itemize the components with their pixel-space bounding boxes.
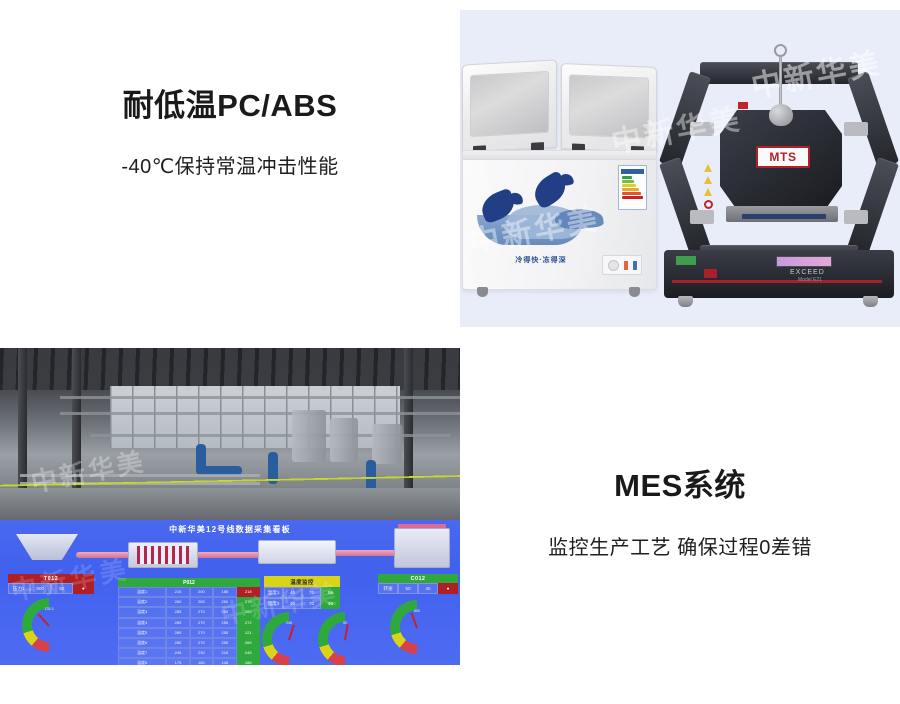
machine-foot xyxy=(678,296,693,307)
mes-table-cell: 200 xyxy=(190,587,213,597)
mes-cell: 温度1 xyxy=(264,587,283,598)
process-pipe xyxy=(334,550,396,556)
process-pipe xyxy=(196,552,260,558)
dolphin-icon xyxy=(529,170,572,210)
base-red-label xyxy=(704,269,717,278)
factory-interior-photo: 中新华美 xyxy=(0,348,460,520)
mes-cell: 900 xyxy=(30,583,52,594)
promo-page: 耐低温PC/ABS -40℃保持常温冲击性能 xyxy=(0,0,900,704)
mes-table-cell: 温度5 xyxy=(118,628,166,638)
chest-freezer-illustration: 冷得快·冻得深 xyxy=(462,58,657,303)
freezer-cabinet: 冷得快·冻得深 xyxy=(462,150,657,290)
mes-cell: 温度2 xyxy=(264,598,283,609)
energy-bar xyxy=(622,188,639,191)
equipment-extruder xyxy=(128,542,198,568)
test-specimen xyxy=(742,214,826,219)
mes-table-row: 温度6285270255269 xyxy=(118,638,260,648)
thermostat-knob-icon xyxy=(608,260,619,271)
hoist-ring-icon xyxy=(774,44,787,57)
mes-cell-alarm: ● xyxy=(73,583,95,594)
base-model-text: Model E21 xyxy=(798,277,822,283)
mes-center-panel[interactable]: 温度监控 温度1 40 70 55 温度2 40 70 46 xyxy=(264,576,340,609)
mes-table-cell: 温度1 xyxy=(118,587,166,597)
top-left-headline: 耐低温PC/ABS xyxy=(123,86,338,126)
mes-center-panel-header: 温度监控 xyxy=(264,576,340,587)
mes-table-row: 温度8175160145166 xyxy=(118,658,260,665)
mes-table-row: 温度4285270255272 xyxy=(118,618,260,628)
frame-bar-upper-left xyxy=(659,71,711,169)
mes-table-cell: 285 xyxy=(166,618,189,628)
mes-table-cell: 255 xyxy=(213,628,236,638)
mes-table-cell-ok: 121 xyxy=(237,628,260,638)
mes-table-cell-ok: 276 xyxy=(237,597,260,607)
mes-table-cell-ok: 272 xyxy=(237,618,260,628)
mes-table-cell: 145 xyxy=(213,658,236,665)
prohibition-icon xyxy=(704,200,713,209)
mes-right-panel-header: C012 xyxy=(378,574,458,583)
frame-pad xyxy=(844,210,868,224)
gauge-label: 600 xyxy=(390,609,444,613)
equipment-hopper xyxy=(16,534,78,560)
warning-triangle-icon xyxy=(704,164,712,172)
mes-left-panel-row: 压力1 900 50 ● xyxy=(8,583,94,594)
mts-logo-text: MTS xyxy=(769,150,796,164)
mes-cell: 40 xyxy=(283,587,302,598)
energy-bar xyxy=(622,176,632,179)
base-accent-stripe xyxy=(672,280,882,283)
mes-table-header: P012 xyxy=(118,578,260,587)
mes-table-cell: 215 xyxy=(213,648,236,658)
warning-triangle-icon xyxy=(704,188,712,196)
mes-table-cell-ok: 166 xyxy=(237,658,260,665)
frame-pad xyxy=(844,122,868,136)
mes-table-cell: 285 xyxy=(166,628,189,638)
mes-table-cell: 215 xyxy=(166,587,189,597)
freezer-caster xyxy=(629,287,640,297)
freezer-lid-right-inner xyxy=(569,74,650,138)
energy-efficiency-label xyxy=(618,165,647,210)
bottom-right-text-block: MES系统 监控生产工艺 确保过程0差错 xyxy=(460,460,900,580)
energy-label-header xyxy=(621,169,644,174)
top-row: 耐低温PC/ABS -40℃保持常温冲击性能 xyxy=(0,0,900,348)
mes-left-panel[interactable]: T012 压力1 900 50 ● xyxy=(8,574,94,594)
factory-beam xyxy=(60,396,460,399)
base-green-label xyxy=(676,256,696,265)
mes-table-cell: 285 xyxy=(166,638,189,648)
mes-table-cell: 270 xyxy=(190,638,213,648)
mes-table-cell: 温度4 xyxy=(118,618,166,628)
mes-table-cell: 185 xyxy=(213,587,236,597)
freezer-lid-right xyxy=(561,63,657,153)
mes-cell: 70 xyxy=(302,587,321,598)
freezer-top-rail xyxy=(463,151,656,160)
mes-table-body: 温度1215200185218温度2280265250276温度32852702… xyxy=(118,587,260,665)
mes-cell: 70 xyxy=(302,598,321,609)
mes-dashboard: 中新华美12号线数据采集看板 T012 压力1 900 50 xyxy=(0,520,460,665)
mes-table-cell: 160 xyxy=(190,658,213,665)
bottom-row: 中新华美 中新华美12号线数据采集看板 T012 压力1 xyxy=(0,348,900,668)
mes-right-panel-row: 转速 50 40 ● xyxy=(378,583,458,594)
mes-table-cell: 245 xyxy=(166,648,189,658)
mes-table-cell-ok: 265 xyxy=(237,607,260,617)
mes-table-cell: 285 xyxy=(166,607,189,617)
factory-floor xyxy=(0,488,460,520)
top-left-text-block: 耐低温PC/ABS -40℃保持常温冲击性能 xyxy=(0,86,460,206)
process-tank xyxy=(330,418,358,462)
equipment-cooling-unit xyxy=(258,540,336,564)
warning-triangle-icon xyxy=(704,176,712,184)
process-pipe xyxy=(76,552,132,558)
mes-center-row: 温度1 40 70 55 xyxy=(264,587,340,598)
warning-label-column xyxy=(704,164,713,209)
mes-table-row: 温度7245230215245 xyxy=(118,648,260,658)
process-tank xyxy=(372,424,402,464)
mes-table-cell: 280 xyxy=(166,597,189,607)
mes-center-row: 温度2 40 70 46 xyxy=(264,598,340,609)
mes-table-cell-ok: 245 xyxy=(237,648,260,658)
mes-cell: 压力1 xyxy=(8,583,30,594)
machine-base: EXCEED Model E21 xyxy=(664,250,894,298)
mes-table-cell: 265 xyxy=(190,597,213,607)
mes-gauge: 245 xyxy=(262,612,316,644)
bottom-right-subline: 监控生产工艺 确保过程0差错 xyxy=(548,531,812,560)
bottom-right-headline: MES系统 xyxy=(614,460,746,505)
mes-gauge: 50 xyxy=(318,612,372,644)
energy-bar xyxy=(622,184,636,187)
mes-table-row: 温度2280265250276 xyxy=(118,597,260,607)
mes-table-cell: 175 xyxy=(166,658,189,665)
mes-data-table: P012 温度1215200185218温度2280265250276温度328… xyxy=(118,578,260,665)
machine-foot xyxy=(863,296,878,307)
mes-cell: 40 xyxy=(418,583,438,594)
freezer-slogan: 冷得快·冻得深 xyxy=(485,255,597,265)
mes-table-cell-ok: 269 xyxy=(237,638,260,648)
process-tank xyxy=(292,410,326,462)
energy-bar xyxy=(622,180,634,183)
frame-pad xyxy=(690,210,714,224)
mes-table-cell: 温度7 xyxy=(118,648,166,658)
mts-logo: MTS xyxy=(756,146,810,168)
mes-table-cell: 温度6 xyxy=(118,638,166,648)
tup-weight-icon xyxy=(769,104,793,126)
mes-table-row: 温度3285270255265 xyxy=(118,607,260,617)
mes-cell: 转速 xyxy=(378,583,398,594)
mes-table-row: 温度1215200185218 xyxy=(118,587,260,597)
top-left-subline: -40℃保持常温冲击性能 xyxy=(121,150,338,179)
mes-cell-ok: 55 xyxy=(321,587,340,598)
mes-table-cell: 温度8 xyxy=(118,658,166,665)
dolphin-logo xyxy=(477,175,605,249)
bottom-left-photo: 中新华美 中新华美12号线数据采集看板 T012 压力1 xyxy=(0,348,460,665)
mes-table-cell: 温度3 xyxy=(118,607,166,617)
mes-table-cell: 270 xyxy=(190,607,213,617)
gauge-label: 50 xyxy=(318,621,372,625)
impact-testing-machine: MTS EXCEED Model E21 xyxy=(668,54,890,309)
gauge-label: 245 xyxy=(262,621,316,625)
control-display-screen[interactable] xyxy=(776,256,832,267)
freezer-lid-left xyxy=(462,59,557,152)
mes-table-cell: 250 xyxy=(213,597,236,607)
equipment-winder xyxy=(394,528,450,568)
mes-table-cell: 270 xyxy=(190,618,213,628)
mes-table-cell: 255 xyxy=(213,607,236,617)
mes-cell: 50 xyxy=(398,583,418,594)
factory-beam xyxy=(60,412,460,415)
mes-table-cell-alarm: 218 xyxy=(237,587,260,597)
mes-table-cell: 温度2 xyxy=(118,597,166,607)
top-right-photo: 冷得快·冻得深 xyxy=(460,10,900,327)
freezer-lid-left-inner xyxy=(470,71,550,137)
base-brand-text: EXCEED xyxy=(790,269,825,276)
energy-bar xyxy=(622,196,643,199)
freezer-caster xyxy=(477,287,488,297)
mes-cell: 40 xyxy=(283,598,302,609)
energy-bar xyxy=(622,192,641,195)
mes-table-cell: 255 xyxy=(213,618,236,628)
gauge-label: 135.3 xyxy=(22,607,76,611)
mes-table-cell: 255 xyxy=(213,638,236,648)
mes-right-panel[interactable]: C012 转速 50 40 ● xyxy=(378,574,458,594)
frame-bar-lower-right xyxy=(847,157,899,255)
mes-gauge: 600 xyxy=(390,600,444,632)
factory-roof-structure xyxy=(0,348,460,390)
mes-table-cell: 230 xyxy=(190,648,213,658)
mes-left-panel-header: T012 xyxy=(8,574,94,583)
mes-dashboard-title: 中新华美12号线数据采集看板 xyxy=(0,524,460,535)
status-chip xyxy=(738,102,748,109)
freezer-control-panel xyxy=(602,255,642,275)
mes-cell-alarm: ● xyxy=(438,583,458,594)
frame-pad xyxy=(690,122,714,136)
mes-cell: 50 xyxy=(51,583,73,594)
mes-table-row: 温度5285270255121 xyxy=(118,628,260,638)
mes-cell-ok: 46 xyxy=(321,598,340,609)
mes-gauge: 135.3 xyxy=(22,598,76,630)
indicator-light xyxy=(624,261,628,270)
frame-bar-upper-right xyxy=(847,71,899,169)
mes-table-cell: 270 xyxy=(190,628,213,638)
indicator-light xyxy=(633,261,637,270)
